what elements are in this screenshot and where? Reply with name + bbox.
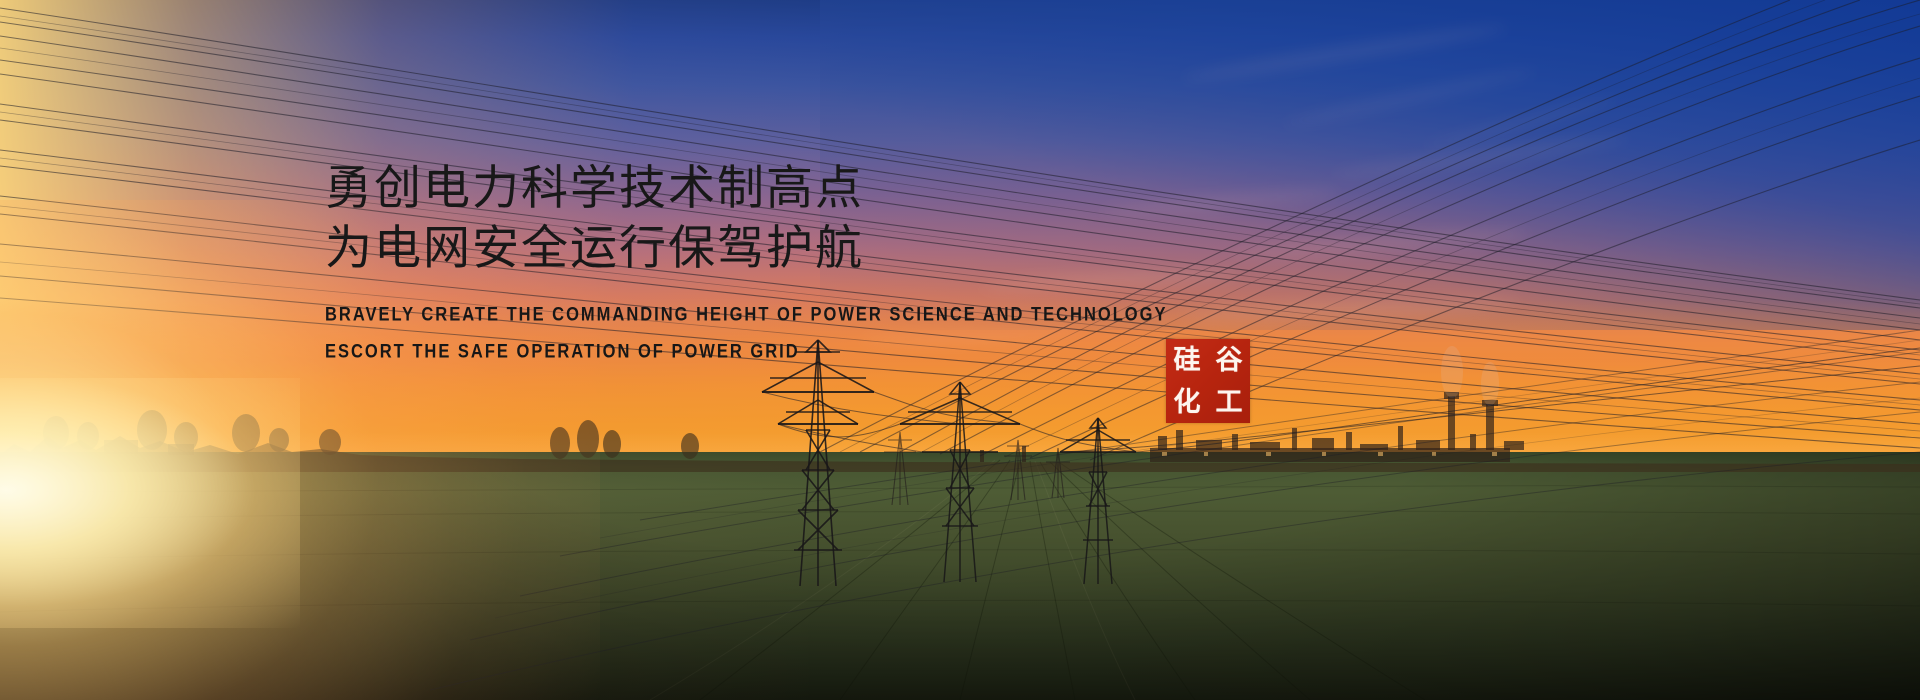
headline-line-1: 勇创电力科学技术制高点 bbox=[325, 158, 1225, 218]
hero-banner: 勇创电力科学技术制高点 为电网安全运行保驾护航 BRAVELY CREATE T… bbox=[0, 0, 1920, 700]
sun-core bbox=[0, 378, 300, 628]
subhead-line-1: BRAVELY CREATE THE COMMANDING HEIGHT OF … bbox=[325, 304, 1225, 326]
banner-copy: 勇创电力科学技术制高点 为电网安全运行保驾护航 BRAVELY CREATE T… bbox=[325, 158, 1225, 360]
headline-line-2: 为电网安全运行保驾护航 bbox=[325, 218, 1225, 278]
subhead-line-2: ESCORT THE SAFE OPERATION OF POWER GRID bbox=[325, 341, 1225, 363]
seal-char-3: 化 bbox=[1174, 389, 1201, 416]
seal-char-4: 工 bbox=[1216, 389, 1243, 416]
tower-primary bbox=[762, 340, 874, 586]
company-seal-logo: 硅 谷 化 工 bbox=[1166, 339, 1250, 423]
tower-tertiary bbox=[1060, 418, 1136, 584]
conductor-spans bbox=[762, 348, 1920, 452]
seal-character-grid: 硅 谷 化 工 bbox=[1166, 339, 1250, 423]
seal-char-1: 硅 bbox=[1174, 347, 1201, 374]
tower-distant bbox=[884, 432, 1070, 505]
tower-secondary bbox=[900, 382, 1020, 582]
seal-char-2: 谷 bbox=[1216, 347, 1243, 374]
